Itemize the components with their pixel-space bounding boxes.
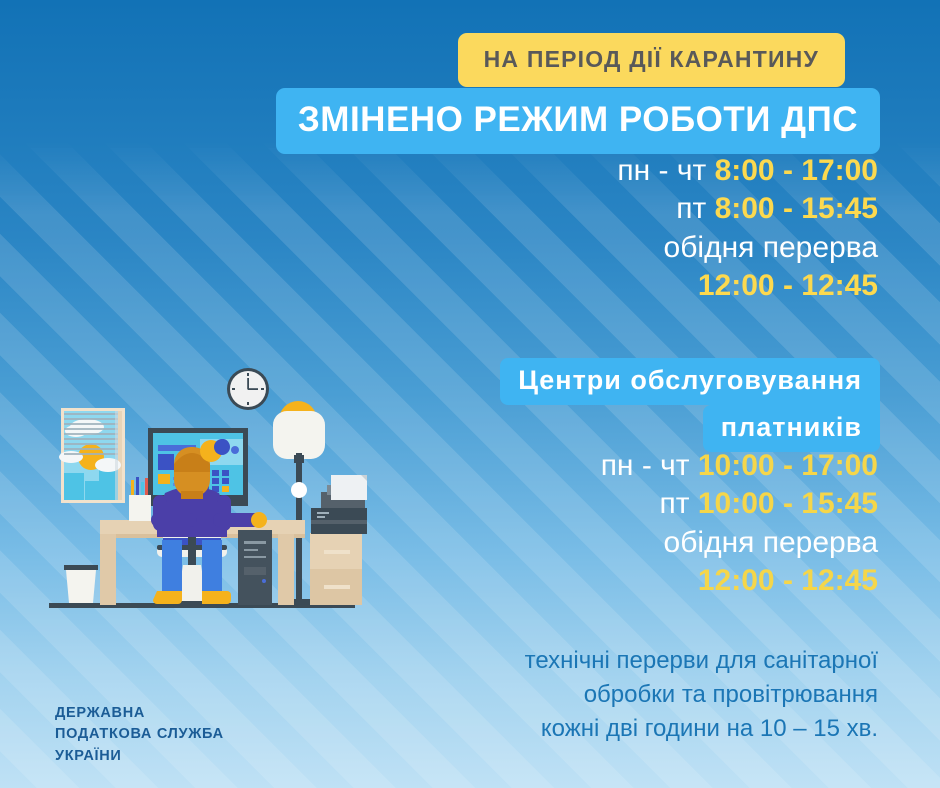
filing-cabinet-icon [310,533,362,605]
schedule-row: пт 8:00 - 15:45 [617,190,878,228]
quarantine-period-badge: НА ПЕРІОД ДІЇ КАРАНТИНУ [458,33,845,87]
logo-line2: Податкова служба [55,724,224,745]
printer-icon [311,475,367,534]
schedule-hours: 8:00 - 17:00 [715,154,878,187]
schedule-hours: 10:00 - 17:00 [698,449,878,482]
poster-root: НА ПЕРІОД ДІЇ КАРАНТИНУ ЗМІНЕНО РЕЖИМ РО… [0,0,940,788]
sanitation-note: технічні перерви для санітарної обробки … [525,644,878,746]
schedule-row: пн - чт 10:00 - 17:00 [601,447,878,485]
schedule-row: пн - чт 8:00 - 17:00 [617,152,878,190]
schedule-main: пн - чт 8:00 - 17:00 пт 8:00 - 15:45 обі… [617,152,878,306]
organization-logo-text: Державна Податкова служба України [55,703,224,767]
schedule-hours: 10:00 - 15:45 [698,487,878,520]
lunch-break-time: 12:00 - 12:45 [617,267,878,305]
logo-line1: Державна [55,703,224,724]
lunch-break-label: обідня перерва [617,229,878,267]
lunch-break-time: 12:00 - 12:45 [601,562,878,600]
computer-tower-icon [238,530,272,605]
window-frame-icon [59,408,125,503]
wall-clock-icon [227,368,269,410]
schedule-days: пн - чт [601,449,690,482]
schedule-days: пн - чт [617,154,706,187]
sanitation-note-line3: кожні дві години на 10 – 15 хв. [525,712,878,746]
schedule-row: пт 10:00 - 15:45 [601,485,878,523]
office-worker-illustration [45,365,385,630]
service-centers-badge-line2: платників [703,405,880,452]
schedule-days: пт [660,487,690,520]
page-title: ЗМІНЕНО РЕЖИМ РОБОТИ ДПС [276,88,880,154]
pencil-cup-icon [129,477,151,521]
lunch-break-label: обідня перерва [601,524,878,562]
sanitation-note-line1: технічні перерви для санітарної [525,644,878,678]
logo-line3: України [55,746,224,767]
schedule-hours: 8:00 - 15:45 [715,192,878,225]
trash-bin-icon [64,565,98,603]
schedule-service-centers: пн - чт 10:00 - 17:00 пт 10:00 - 15:45 о… [601,447,878,601]
sanitation-note-line2: обробки та провітрювання [525,678,878,712]
schedule-days: пт [676,192,706,225]
service-centers-badge-line1: Центри обслуговування [500,358,880,405]
service-centers-badge: Центри обслуговування платників [500,358,880,452]
